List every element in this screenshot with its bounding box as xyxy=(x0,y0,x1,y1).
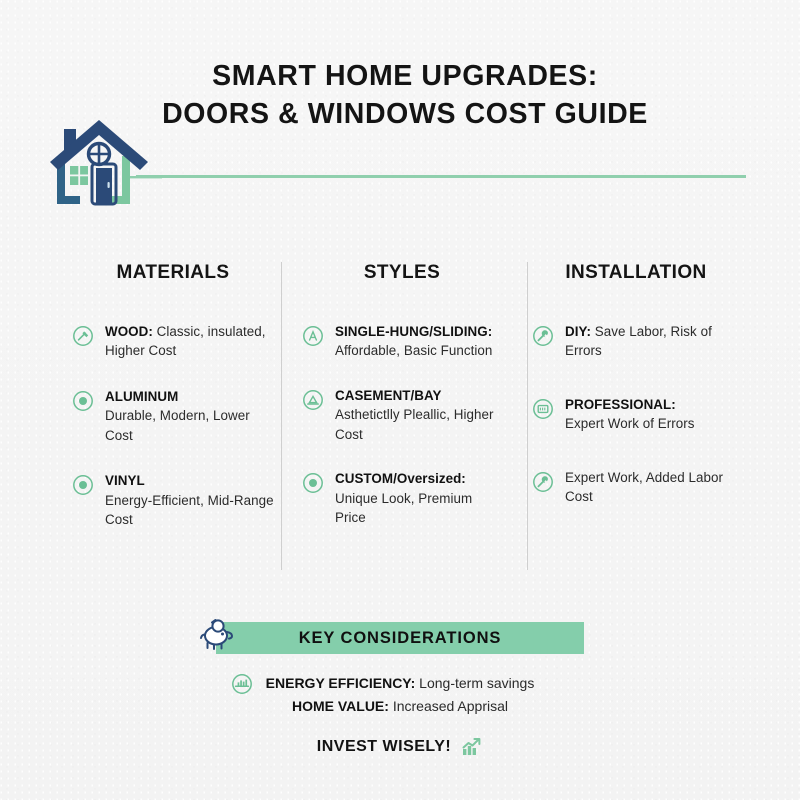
list-item-description: Durable, Modern, Lower Cost xyxy=(105,408,250,442)
invest-wisely-label: INVEST WISELY! xyxy=(317,738,451,756)
list-item-label: WOOD: xyxy=(105,324,153,339)
list-item[interactable]: PROFESSIONAL: Expert Work of Errors xyxy=(532,395,734,434)
list-item-description: Asthetictlly Pleallic, Higher Cost xyxy=(335,407,493,441)
list-item-description: Unique Look, Premium Price xyxy=(335,491,472,525)
list-item[interactable]: SINGLE-HUNG/SLIDING: Affordable, Basic F… xyxy=(302,322,504,361)
list-item-label: CUSTOM/Oversized: xyxy=(335,471,466,486)
list-item-text: SINGLE-HUNG/SLIDING: Affordable, Basic F… xyxy=(335,322,492,361)
list-item-text: WOOD: Classic, insulated, Higher Cost xyxy=(105,322,274,361)
page-title-line-1: SMART HOME UPGRADES: xyxy=(120,58,690,96)
list-item[interactable]: WOOD: Classic, insulated, Higher Cost xyxy=(72,322,274,361)
columns-section: MATERIALS WOOD: Classic, insulated, High… xyxy=(58,262,748,570)
wrench-icon xyxy=(532,325,554,347)
list-item-label: CASEMENT/BAY xyxy=(335,388,442,403)
list-item-label: SINGLE-HUNG/SLIDING: xyxy=(335,324,492,339)
list-item[interactable]: CUSTOM/Oversized: Unique Look, Premium P… xyxy=(302,469,504,527)
column-heading-styles: STYLES xyxy=(300,262,504,284)
list-item-text: DIY: Save Labor, Risk of Errors xyxy=(565,322,734,361)
column-materials: MATERIALS WOOD: Classic, insulated, High… xyxy=(58,262,288,570)
list-item[interactable]: Expert Work, Added Labor Cost xyxy=(532,468,734,507)
key-line-home-value: HOME VALUE: Increased Apprisal xyxy=(100,695,700,718)
filled-dot-icon xyxy=(302,472,324,494)
list-item-text: VINYL Energy-Efficient, Mid-Range Cost xyxy=(105,471,274,529)
list-item-description: Expert Work, Added Labor Cost xyxy=(565,470,723,504)
hammer-tool-icon xyxy=(72,325,94,347)
list-item-description: Expert Work of Errors xyxy=(565,416,695,431)
key-line-label: HOME VALUE: xyxy=(292,698,389,714)
list-item-text: CASEMENT/BAY Asthetictlly Pleallic, High… xyxy=(335,386,504,444)
key-considerations-lines: ENERGY EFFICIENCY: Long-term savings HOM… xyxy=(100,672,700,717)
list-item[interactable]: CASEMENT/BAY Asthetictlly Pleallic, High… xyxy=(302,386,504,444)
list-item-description: Affordable, Basic Function xyxy=(335,343,492,358)
wrench-icon xyxy=(532,471,554,493)
key-line-value: Increased Apprisal xyxy=(389,698,508,714)
badge-icon xyxy=(532,398,554,420)
column-heading-installation: INSTALLATION xyxy=(538,262,734,284)
key-considerations-label: KEY CONSIDERATIONS xyxy=(216,622,584,654)
list-item-label: ALUMINUM xyxy=(105,389,178,404)
infographic-canvas: SMART HOME UPGRADES: DOORS & WINDOWS COS… xyxy=(0,0,800,800)
list-item-text: ALUMINUM Durable, Modern, Lower Cost xyxy=(105,387,274,445)
list-item-text: Expert Work, Added Labor Cost xyxy=(565,468,734,507)
list-item[interactable]: DIY: Save Labor, Risk of Errors xyxy=(532,322,734,361)
key-line-energy-efficiency: ENERGY EFFICIENCY: Long-term savings xyxy=(100,672,700,695)
filled-dot-icon xyxy=(72,474,94,496)
key-considerations-banner: KEY CONSIDERATIONS xyxy=(216,622,584,654)
list-item-text: PROFESSIONAL: Expert Work of Errors xyxy=(565,395,695,434)
column-heading-materials: MATERIALS xyxy=(72,262,274,284)
list-item-label: DIY: xyxy=(565,324,591,339)
list-item-label: PROFESSIONAL: xyxy=(565,397,676,412)
page-title-line-2: DOORS & WINDOWS COST GUIDE xyxy=(120,96,690,134)
list-item[interactable]: ALUMINUM Durable, Modern, Lower Cost xyxy=(72,387,274,445)
key-line-label: ENERGY EFFICIENCY: xyxy=(266,675,416,691)
awning-window-icon xyxy=(302,389,324,411)
piggy-bank-icon xyxy=(193,617,239,659)
invest-wisely-row: INVEST WISELY! xyxy=(100,735,700,759)
column-installation: INSTALLATION DIY: Save Labor, Risk of Er… xyxy=(518,262,748,570)
key-line-value: Long-term savings xyxy=(415,675,534,691)
letter-a-circle-icon xyxy=(302,325,324,347)
list-item-description: Energy-Efficient, Mid-Range Cost xyxy=(105,493,274,527)
growth-chart-icon xyxy=(459,735,483,759)
list-item[interactable]: VINYL Energy-Efficient, Mid-Range Cost xyxy=(72,471,274,529)
list-item-label: VINYL xyxy=(105,473,145,488)
column-styles: STYLES SINGLE-HUNG/SLIDING: Affordable, … xyxy=(288,262,518,570)
title-divider-rule xyxy=(136,175,746,178)
page-title: SMART HOME UPGRADES: DOORS & WINDOWS COS… xyxy=(120,58,690,133)
list-item-text: CUSTOM/Oversized: Unique Look, Premium P… xyxy=(335,469,504,527)
filled-dot-icon xyxy=(72,390,94,412)
